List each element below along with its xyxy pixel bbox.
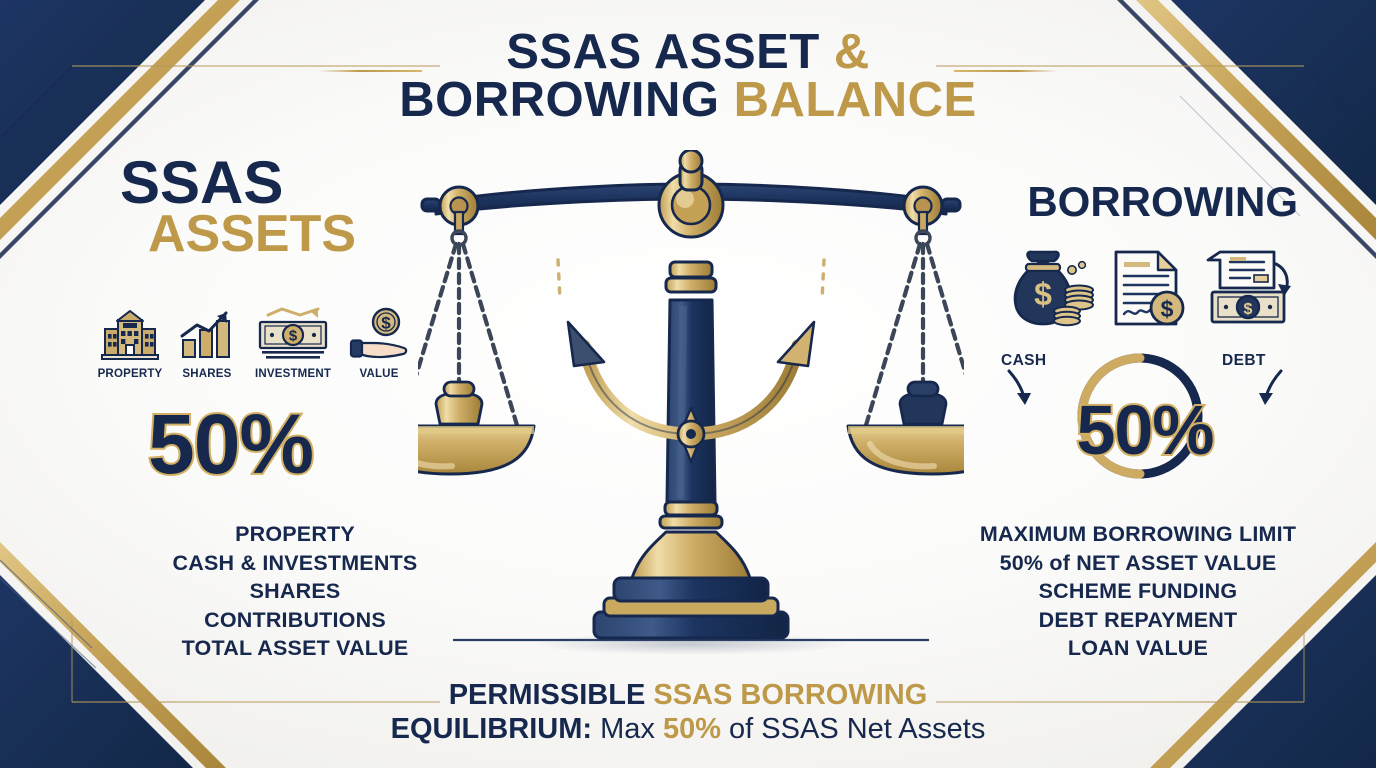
footer-caption: PERMISSIBLE SSAS BORROWING EQUILIBRIUM: … [0, 678, 1376, 746]
list-item: PROPERTY [100, 520, 490, 549]
borrowing-icon-row: $ $ [1010, 248, 1294, 335]
borrowing-bullet-list: MAXIMUM BORROWING LIMIT 50% of NET ASSET… [938, 520, 1338, 663]
balance-scale-illustration [418, 150, 964, 660]
footer-line1-gold: SSAS BORROWING [653, 679, 927, 711]
signed-document-icon: $ [1110, 248, 1190, 335]
growth-bar-chart-icon [178, 305, 236, 363]
arrow-debt-down [1259, 371, 1281, 405]
invoice-banknote-icon: $ [1202, 248, 1294, 335]
list-item: TOTAL ASSET VALUE [100, 634, 490, 663]
footer-line2-tail: of SSAS Net Assets [729, 713, 985, 745]
footer-line1-navy: PERMISSIBLE [449, 679, 646, 711]
list-item: SCHEME FUNDING [938, 577, 1338, 606]
footer-line2-max: Max [600, 713, 655, 745]
scale-pan-right [848, 382, 964, 474]
title-line1-navy: SSAS ASSET [506, 25, 820, 79]
page-title: SSAS ASSET & BORROWING BALANCE [0, 28, 1376, 124]
borrowing-heading: BORROWING [1027, 183, 1298, 222]
arrow-cash-down [1009, 371, 1031, 405]
asset-icon-label: PROPERTY [98, 368, 163, 380]
title-line2-navy: BORROWING [399, 73, 719, 127]
svg-text:$: $ [381, 314, 391, 333]
borrowing-percentage: 50% [1055, 390, 1235, 470]
asset-icon-label: SHARES [182, 368, 231, 380]
assets-heading: SSAS ASSETS [120, 155, 356, 260]
hand-holding-coin-icon: $ [349, 305, 409, 363]
title-line1-gold: & [834, 25, 870, 79]
list-item: SHARES [100, 577, 490, 606]
asset-icon-label: VALUE [359, 368, 398, 380]
scale-hub [659, 150, 723, 237]
scale-pivot-right [904, 187, 942, 245]
assets-bullet-list: PROPERTY CASH & INVESTMENTS SHARES CONTR… [100, 520, 490, 663]
asset-icon-property: PROPERTY [96, 305, 164, 380]
footer-line2-label: EQUILIBRIUM: [391, 713, 592, 745]
property-building-icon [101, 305, 159, 363]
svg-text:$: $ [289, 328, 298, 345]
list-item: MAXIMUM BORROWING LIMIT [938, 520, 1338, 549]
list-item: CASH & INVESTMENTS [100, 549, 490, 578]
scale-base [594, 502, 788, 638]
scale-pan-left [418, 382, 534, 474]
asset-icon-value: $ VALUE [345, 305, 413, 380]
assets-percentage: 50% [148, 396, 313, 493]
svg-text:$: $ [1161, 296, 1174, 322]
list-item: LOAN VALUE [938, 634, 1338, 663]
assets-heading-line2: ASSETS [148, 210, 356, 259]
money-bag-coins-icon: $ [1010, 248, 1098, 335]
list-item: DEBT REPAYMENT [938, 606, 1338, 635]
list-item: 50% of NET ASSET VALUE [938, 549, 1338, 578]
banknote-icon: $ [256, 305, 330, 363]
infographic-canvas: SSAS ASSET & BORROWING BALANCE SSAS ASSE… [0, 0, 1376, 768]
svg-text:$: $ [1034, 276, 1052, 312]
asset-icon-row: PROPERTY SHARES [96, 305, 413, 380]
borrowing-heading-line1: BORROWING [1027, 183, 1298, 222]
footer-line2-percent: 50% [663, 713, 721, 745]
svg-text:$: $ [1244, 301, 1253, 318]
scale-pivot-left [440, 187, 478, 245]
list-item: CONTRIBUTIONS [100, 606, 490, 635]
asset-icon-investment: $ INVESTMENT [250, 305, 336, 380]
title-line2-gold: BALANCE [734, 73, 977, 127]
asset-icon-shares: SHARES [173, 305, 241, 380]
asset-icon-label: INVESTMENT [255, 368, 331, 380]
assets-heading-line1: SSAS [120, 155, 356, 210]
